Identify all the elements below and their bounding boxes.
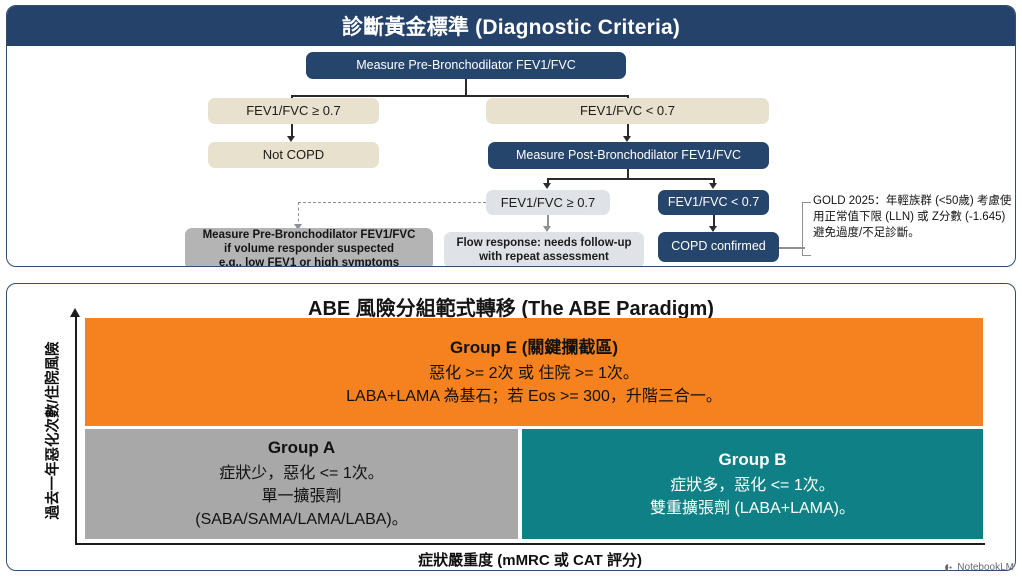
node-measure-post-bronchodilator: Measure Post-Bronchodilator FEV1/FVC [488,142,769,169]
abe-group-b: Group B 症狀多，惡化 <= 1次。 雙重擴張劑 (LABA+LAMA)。 [522,429,983,539]
node-label: Not COPD [263,147,324,163]
diagnostic-criteria-panel: 診斷黃金標準 (Diagnostic Criteria) Measure Pre… [6,5,1016,267]
node-volume-responder: Measure Pre-Bronchodilator FEV1/FVC if v… [185,228,433,267]
notebooklm-logo-icon [943,562,954,573]
node-copd-confirmed: COPD confirmed [658,232,779,262]
y-axis-label: 過去一年惡化次數/住院風險 [42,316,63,546]
diagnostic-panel-header: 診斷黃金標準 (Diagnostic Criteria) [7,6,1015,46]
node-label: FEV1/FVC ≥ 0.7 [246,103,341,119]
group-line-1: 惡化 >= 2次 或 住院 >= 1次。 [429,362,639,385]
abe-group-e: Group E (關鍵攔截區) 惡化 >= 2次 或 住院 >= 1次。 LAB… [85,318,983,426]
y-axis-line [75,316,77,544]
dashed-connector-horizontal [298,202,486,203]
group-line-3: (SABA/SAMA/LAMA/LABA)。 [195,508,408,531]
node-label: Measure Pre-Bronchodilator FEV1/FVC [356,58,576,73]
group-line-2: 雙重擴張劑 (LABA+LAMA)。 [650,497,855,520]
node-label: Measure Post-Bronchodilator FEV1/FVC [516,148,741,163]
node-label: FEV1/FVC < 0.7 [668,195,759,210]
node-not-copd: Not COPD [208,142,379,168]
notebooklm-watermark: NotebookLM [943,562,1014,573]
node-post-bd-lt-0-7: FEV1/FVC < 0.7 [658,190,769,215]
connector-copd-to-note [779,247,805,249]
node-label: FEV1/FVC < 0.7 [580,103,675,119]
connector-post-split [547,178,714,180]
connector-root-down [465,79,467,96]
group-title: Group B [719,448,787,473]
diagnostic-panel-title: 診斷黃金標準 (Diagnostic Criteria) [342,11,680,41]
group-title: Group A [268,436,335,461]
group-line-2: LABA+LAMA 為基石；若 Eos >= 300，升階三合一。 [346,385,722,408]
abe-group-a: Group A 症狀少，惡化 <= 1次。 單一擴張劑 (SABA/SAMA/L… [85,429,518,539]
arrowhead-post-left [543,183,551,189]
group-line-2: 單一擴張劑 [261,485,341,508]
node-label: FEV1/FVC ≥ 0.7 [501,195,596,211]
node-flow-response: Flow response: needs follow-up with repe… [444,232,644,267]
node-label: COPD confirmed [671,239,765,254]
node-pre-bd-lt-0-7: FEV1/FVC < 0.7 [486,98,769,124]
group-title: Group E (關鍵攔截區) [450,336,618,361]
node-measure-pre-bronchodilator: Measure Pre-Bronchodilator FEV1/FVC [306,52,626,79]
node-label-line1: Measure Pre-Bronchodilator FEV1/FVC [203,228,416,242]
arrowhead-post-right [709,183,717,189]
node-pre-bd-ge-0-7: FEV1/FVC ≥ 0.7 [208,98,379,124]
x-axis-label: 症狀嚴重度 (mMRC 或 CAT 評分) [75,549,985,570]
node-label-line2: if volume responder suspected [224,242,394,256]
group-line-1: 症狀少，惡化 <= 1次。 [219,462,383,485]
connector-root-split [291,95,628,97]
watermark-label: NotebookLM [957,562,1014,573]
abe-panel-title: ABE 風險分組範式轉移 (The ABE Paradigm) [0,292,1022,321]
node-label-line2: with repeat assessment [479,250,609,264]
group-line-1: 症狀多，惡化 <= 1次。 [670,474,834,497]
node-label-line3: e.g., low FEV1 or high symptoms [219,256,399,267]
node-post-bd-ge-0-7: FEV1/FVC ≥ 0.7 [486,190,610,215]
x-axis-line [75,543,985,545]
node-label-line1: Flow response: needs follow-up [456,236,631,250]
gold-2025-note: GOLD 2025：年輕族群 (<50歲) 考慮使用正常值下限 (LLN) 或 … [813,194,1016,242]
